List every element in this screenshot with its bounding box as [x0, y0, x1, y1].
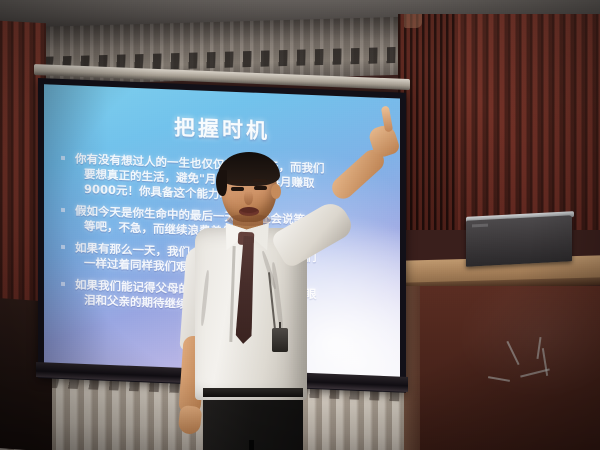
eye-left — [231, 187, 244, 191]
bullet-marker-icon — [61, 156, 65, 160]
right-upper-arm-sleeve — [270, 198, 357, 270]
presenter — [175, 150, 415, 450]
bullet-marker-icon — [61, 245, 65, 249]
nose — [244, 191, 253, 205]
bullet-marker-icon — [61, 282, 65, 286]
wooden-lectern — [404, 286, 600, 450]
left-hand — [178, 405, 203, 435]
curtain-rod-notch — [404, 14, 422, 28]
chin-shadow — [227, 214, 271, 226]
bullet-marker-icon — [61, 208, 65, 212]
hair — [218, 152, 280, 186]
eye-right — [254, 186, 267, 190]
belt — [203, 388, 303, 397]
hair-sideburn — [216, 170, 227, 196]
lecture-hall-photo: 把握时机 你有没有想过人的一生也仅仅是2万多天，而我们 要想真正的生活，避免"月… — [0, 0, 600, 450]
wireless-belt-pack-transmitter — [272, 328, 288, 352]
trouser-leg-seam — [249, 440, 254, 450]
ear — [271, 184, 281, 199]
slide-title: 把握时机 — [44, 106, 400, 150]
